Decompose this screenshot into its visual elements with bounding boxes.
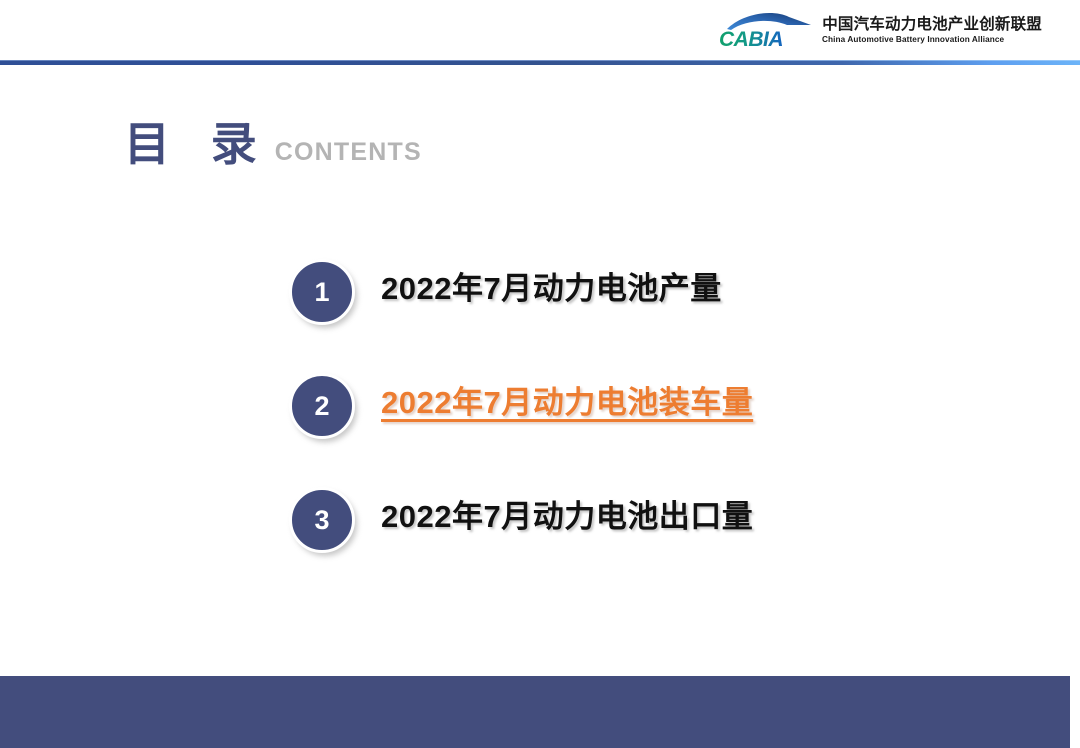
slide-footer-band	[0, 676, 1070, 748]
contents-label-3[interactable]: 2022年7月动力电池出口量	[381, 496, 753, 538]
badge-number: 3	[314, 507, 329, 534]
cabia-logo: CABIA 中国汽车动力电池产业创新联盟 China Automotive Ba…	[717, 10, 1042, 50]
contents-badge-3[interactable]: 3	[289, 487, 357, 555]
badge-circle: 2	[289, 373, 355, 439]
contents-label-1[interactable]: 2022年7月动力电池产量	[381, 268, 722, 310]
contents-list: 1 2022年7月动力电池产量 2 2022年7月动力电池装车量 3 2022年…	[0, 259, 1080, 601]
slide-header: CABIA 中国汽车动力电池产业创新联盟 China Automotive Ba…	[0, 0, 1080, 62]
org-name-en: China Automotive Battery Innovation Alli…	[822, 35, 1040, 43]
slide-canvas: CABIA 中国汽车动力电池产业创新联盟 China Automotive Ba…	[0, 0, 1080, 748]
page-title-en: CONTENTS	[275, 140, 422, 165]
badge-number: 2	[314, 393, 329, 420]
contents-badge-2[interactable]: 2	[289, 373, 357, 441]
contents-item-3[interactable]: 3 2022年7月动力电池出口量	[0, 487, 1080, 601]
cabia-car-logo-icon: CABIA	[717, 10, 813, 50]
contents-item-2[interactable]: 2 2022年7月动力电池装车量	[0, 373, 1080, 487]
page-title-cn: 目 录	[124, 121, 271, 167]
svg-text:CABIA: CABIA	[719, 28, 783, 50]
badge-number: 1	[314, 279, 329, 306]
badge-circle: 3	[289, 487, 355, 553]
org-name-cn: 中国汽车动力电池产业创新联盟	[822, 17, 1042, 33]
contents-badge-1[interactable]: 1	[289, 259, 357, 327]
contents-label-2[interactable]: 2022年7月动力电池装车量	[381, 382, 753, 424]
logo-text-block: 中国汽车动力电池产业创新联盟 China Automotive Battery …	[822, 17, 1042, 44]
badge-circle: 1	[289, 259, 355, 325]
contents-item-1[interactable]: 1 2022年7月动力电池产量	[0, 259, 1080, 373]
header-divider-highlight	[0, 60, 1080, 61]
page-title: 目 录 CONTENTS	[124, 121, 422, 167]
